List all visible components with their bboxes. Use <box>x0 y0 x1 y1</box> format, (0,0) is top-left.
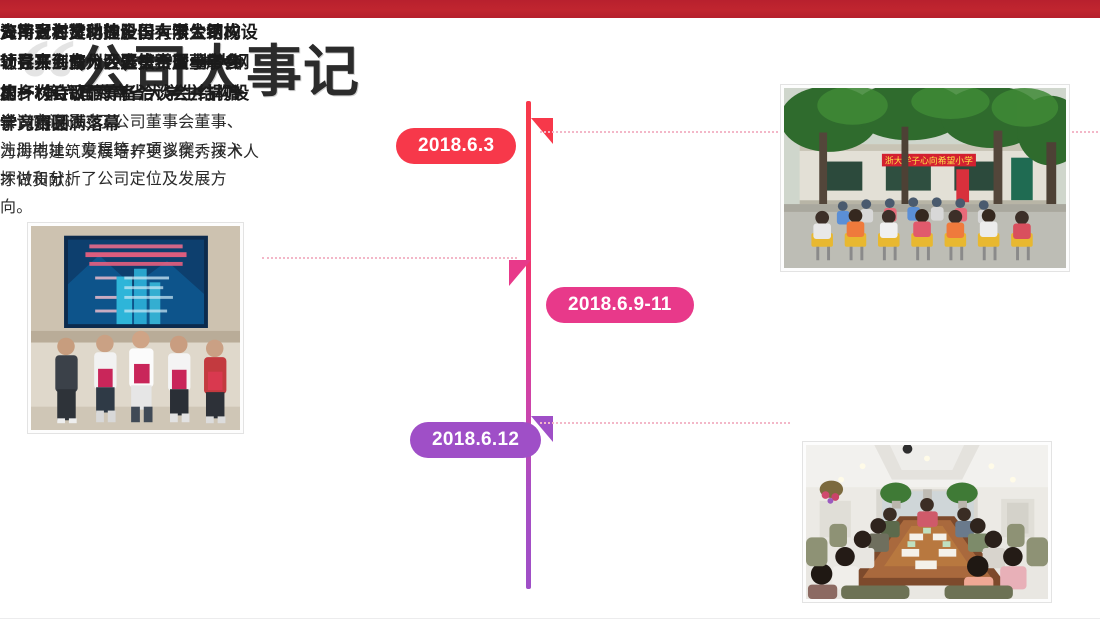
timeline-axis <box>526 101 531 589</box>
date-badge-tail-3 <box>531 416 553 442</box>
date-badge-3[interactable]: 2018.6.12 <box>410 422 541 458</box>
slide-canvas: “ 公司大事记 2018.6.3 支持乡村文化建设——浙大钢构领导来到儋州沙表头… <box>0 18 1100 619</box>
entry-title-3: 海南省海建科技股份有限公司成功召开创立大会暨第一届董事会第一次会议 <box>0 18 250 109</box>
entry-divider-2 <box>262 257 517 259</box>
accent-top-bar <box>0 0 1100 18</box>
entry-description-3: 会议审议通过了公司董事会董事、注册地址、章程等17项议案，深入探讨和分析了公司定… <box>0 109 250 223</box>
competition-award-photo <box>28 223 243 433</box>
entry-text-block-3: 海南省海建科技股份有限公司成功召开创立大会暨第一届董事会第一次会议 会议审议通过… <box>0 18 250 223</box>
timeline-entry-3: 2018.6.12 海南省海建科技股份有限公司成功召开创立大会暨第一届董事会第一… <box>0 18 250 223</box>
svg-text:浙大学子心向希望小学: 浙大学子心向希望小学 <box>885 155 973 167</box>
date-badge-1[interactable]: 2018.6.3 <box>396 128 516 164</box>
date-badge-tail-2 <box>509 260 531 286</box>
entry-divider-3 <box>540 422 790 424</box>
school-donation-photo: 浙大学子心向希望小学 <box>781 85 1069 271</box>
board-meeting-photo <box>803 442 1051 602</box>
date-badge-2[interactable]: 2018.6.9-11 <box>546 287 694 323</box>
